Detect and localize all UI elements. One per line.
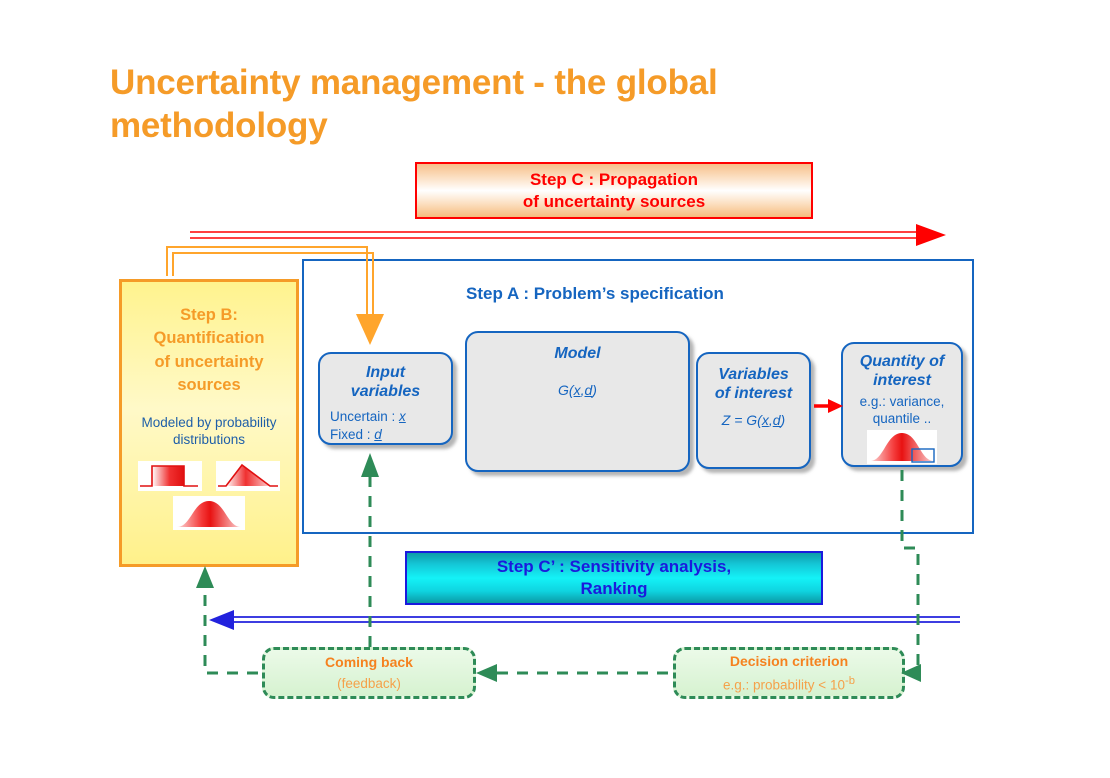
distribution-thumbnails <box>122 461 296 530</box>
step-b-heading-line3: of uncertainty <box>128 351 290 374</box>
step-b-heading-line4: sources <box>128 374 290 397</box>
decision-formula-prefix: e.g.: probability < 10 <box>723 678 845 693</box>
decision-formula-exponent: -b <box>845 675 855 687</box>
normal-distribution-with-quantile-box-icon <box>867 430 937 464</box>
quantity-of-interest-examples: e.g.: variance, quantile .. <box>843 394 961 428</box>
step-c-banner: Step C : Propagation of uncertainty sour… <box>415 162 813 219</box>
step-b-heading: Step B: Quantification of uncertainty so… <box>122 304 296 398</box>
quantity-of-interest-title-line1: Quantity of <box>843 352 961 371</box>
model-formula-var1: x <box>574 382 581 398</box>
voi-formula-prefix: Z = G( <box>722 412 762 428</box>
quantity-of-interest-title-line2: interest <box>843 371 961 390</box>
step-b-sub-line1: Modeled by probability <box>130 415 288 432</box>
step-b-sub-line2: distributions <box>130 432 288 449</box>
uniform-distribution-icon <box>138 461 202 491</box>
input-variables-title: Input variables <box>320 363 451 401</box>
page-title: Uncertainty management - the global meth… <box>110 62 870 147</box>
decision-criterion-formula: e.g.: probability < 10-b <box>723 674 855 694</box>
input-variables-fixed: Fixed : d <box>330 426 451 444</box>
normal-distribution-icon <box>173 496 245 530</box>
model-formula: G(x,d) <box>467 381 688 399</box>
model-title: Model <box>467 344 688 363</box>
coming-back-subtitle: (feedback) <box>337 675 401 693</box>
step-b-heading-line1: Step B: <box>128 304 290 327</box>
step-b-heading-line2: Quantification <box>128 327 290 350</box>
model-formula-suffix: ) <box>592 382 597 398</box>
input-variables-uncertain: Uncertain : x <box>330 408 451 426</box>
step-b-subtitle: Modeled by probability distributions <box>122 415 296 449</box>
voi-formula-var1: x <box>762 412 769 428</box>
triangular-distribution-icon <box>216 461 280 491</box>
decision-criterion-title: Decision criterion <box>730 652 848 670</box>
coming-back-title: Coming back <box>325 653 413 671</box>
step-c-prime-banner: Step C’ : Sensitivity analysis, Ranking <box>405 551 823 605</box>
box-decision-criterion: Decision criterion e.g.: probability < 1… <box>673 647 905 699</box>
blue-double-arrow-left <box>209 610 960 630</box>
quantity-thumbnail-wrap <box>843 430 961 464</box>
fixed-value: d <box>374 427 382 442</box>
uncertain-value: x <box>399 409 406 424</box>
variables-of-interest-title-line1: Variables <box>698 365 809 384</box>
node-input-variables: Input variables Uncertain : x Fixed : d <box>318 352 453 445</box>
quantity-example-line1: e.g.: variance, <box>843 394 961 411</box>
box-coming-back: Coming back (feedback) <box>262 647 476 699</box>
slide-canvas: Uncertainty management - the global meth… <box>0 0 1110 778</box>
quantity-example-line2: quantile .. <box>843 411 961 428</box>
node-quantity-of-interest: Quantity of interest e.g.: variance, qua… <box>841 342 963 467</box>
model-formula-prefix: G( <box>558 382 574 398</box>
step-b-panel: Step B: Quantification of uncertainty so… <box>119 279 299 567</box>
thumbnail-row-top <box>122 461 296 491</box>
green-dashed-path-comingback-to-stepb <box>196 566 258 673</box>
step-c-line2: of uncertainty sources <box>523 191 705 213</box>
voi-formula-var2: d <box>773 412 781 428</box>
step-c-prime-line2: Ranking <box>580 578 647 600</box>
thumbnail-row-bottom <box>122 496 296 530</box>
quantity-of-interest-title: Quantity of interest <box>843 352 961 390</box>
node-model: Model G(x,d) <box>465 331 690 472</box>
input-variables-details: Uncertain : x Fixed : d <box>320 408 451 443</box>
step-a-title: Step A : Problem’s specification <box>430 284 760 304</box>
step-c-line1: Step C : Propagation <box>530 169 698 191</box>
green-dashed-path-decision-to-comingback <box>476 664 668 682</box>
input-variables-title-line1: Input <box>320 363 451 382</box>
red-double-arrow-right <box>190 224 946 246</box>
step-c-prime-line1: Step C’ : Sensitivity analysis, <box>497 556 731 578</box>
voi-formula-suffix: ) <box>781 412 786 428</box>
variables-of-interest-title: Variables of interest <box>698 365 809 403</box>
fixed-label: Fixed : <box>330 427 374 442</box>
uncertain-label: Uncertain : <box>330 409 399 424</box>
node-variables-of-interest: Variables of interest Z = G(x,d) <box>696 352 811 469</box>
variables-of-interest-formula: Z = G(x,d) <box>698 411 809 429</box>
input-variables-title-line2: variables <box>320 382 451 401</box>
variables-of-interest-title-line2: of interest <box>698 384 809 403</box>
